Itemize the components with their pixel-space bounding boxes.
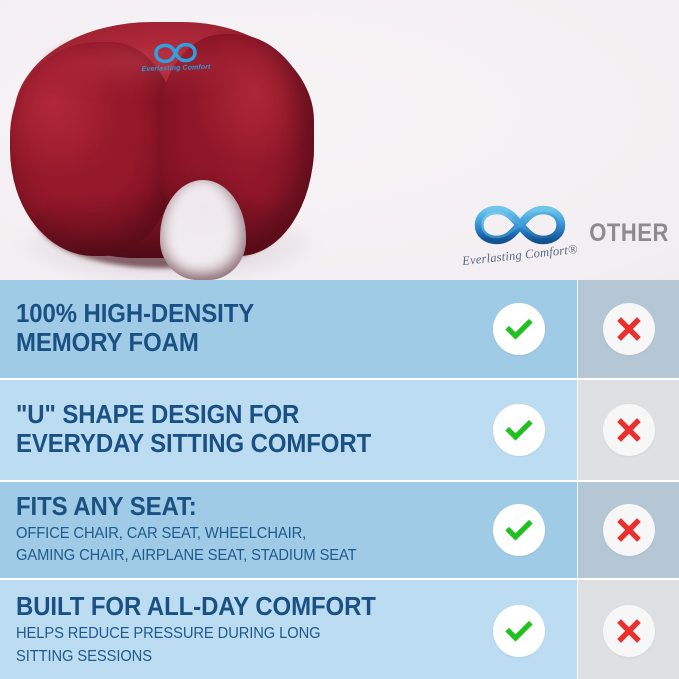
cross-icon [615,617,643,645]
cross-badge [603,504,655,556]
table-row: BUILT FOR ALL-DAY COMFORT HELPS REDUCE P… [0,580,679,679]
cross-badge [603,605,655,657]
check-icon [504,415,534,445]
feature-sub-line1: OFFICE CHAIR, CAR SEAT, WHEELCHAIR, [16,524,439,545]
other-cross-cell [577,580,679,679]
feature-title-line1: "U" SHAPE DESIGN FOR [16,401,435,430]
cross-icon [615,416,643,444]
brand-check-cell [461,280,577,378]
table-row: FITS ANY SEAT: OFFICE CHAIR, CAR SEAT, W… [0,482,679,578]
comparison-table: 100% HIGH-DENSITY MEMORY FOAM [0,280,679,679]
feature-sub-line2: GAMING CHAIR, AIRPLANE SEAT, STADIUM SEA… [16,546,439,567]
check-badge [493,605,545,657]
brand-logo: Everlasting Comfort® [462,203,584,263]
check-badge [493,404,545,456]
feature-title-line2: EVERYDAY SITTING COMFORT [16,430,435,459]
infinity-icon [462,203,578,247]
feature-cell: FITS ANY SEAT: OFFICE CHAIR, CAR SEAT, W… [0,482,461,578]
cross-badge [603,404,655,456]
feature-title-line1: BUILT FOR ALL-DAY COMFORT [16,593,435,622]
cushion-brand-logo: Everlasting Comfort [127,40,225,95]
check-icon [504,515,534,545]
table-row: "U" SHAPE DESIGN FOR EVERYDAY SITTING CO… [0,380,679,480]
brand-check-cell [461,482,577,578]
feature-title-line2: MEMORY FOAM [16,329,435,358]
cross-badge [603,303,655,355]
cross-icon [615,315,643,343]
feature-cell: BUILT FOR ALL-DAY COMFORT HELPS REDUCE P… [0,580,461,679]
check-badge [493,303,545,355]
check-icon [504,314,534,344]
product-comparison-infographic: Everlasting Comfort [0,0,679,679]
check-badge [493,504,545,556]
feature-sub-line1: HELPS REDUCE PRESSURE DURING LONG [16,624,439,645]
other-cross-cell [577,380,679,480]
other-cross-cell [577,482,679,578]
infinity-icon [127,40,224,65]
table-row: 100% HIGH-DENSITY MEMORY FOAM [0,280,679,378]
other-column-label: OTHER [584,219,669,248]
cross-icon [615,516,643,544]
brand-check-cell [461,380,577,480]
hero-section: Everlasting Comfort [0,0,679,280]
check-icon [504,616,534,646]
comparison-column-headers: Everlasting Comfort® OTHER [462,196,679,270]
feature-sub-line2: SITTING SESSIONS [16,647,439,668]
feature-title-line1: FITS ANY SEAT: [16,493,435,522]
brand-check-cell [461,580,577,679]
feature-cell: 100% HIGH-DENSITY MEMORY FOAM [0,280,461,378]
feature-title-line1: 100% HIGH-DENSITY [16,300,435,329]
other-cross-cell [577,280,679,378]
product-image: Everlasting Comfort [8,12,320,274]
feature-cell: "U" SHAPE DESIGN FOR EVERYDAY SITTING CO… [0,380,461,480]
